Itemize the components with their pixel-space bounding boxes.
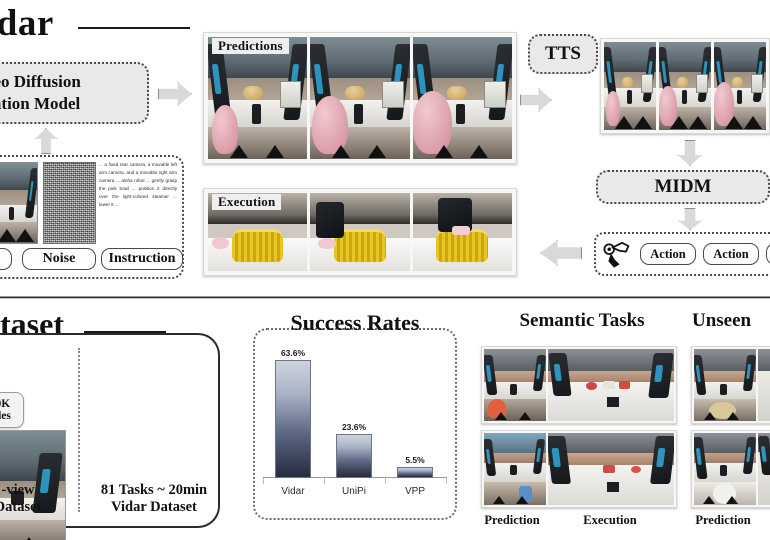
episodes-callout: 50K odes	[0, 392, 24, 428]
robot-arm-icon	[602, 238, 634, 270]
caption-line1: 81 Tasks ~ 20min	[80, 482, 228, 499]
instruction-text: ... a fixed rear camera, a movable left …	[99, 161, 177, 245]
unseen-prediction-caption: Prediction	[688, 513, 758, 527]
predictions-label: Predictions	[212, 38, 289, 54]
unseen-prediction-image	[694, 433, 756, 505]
chart-bar-unipi[interactable]	[336, 434, 372, 478]
noise-image	[43, 162, 96, 244]
chart-title: Success Rates	[253, 310, 457, 336]
semantic-prediction-image	[484, 433, 546, 505]
chart-tick	[324, 478, 325, 484]
arrow-predictions-to-tts	[520, 88, 552, 112]
episodes-callout-line2: odes	[0, 410, 11, 422]
unseen-title: Unseen	[692, 310, 751, 332]
unseen-prediction-image	[694, 349, 756, 421]
execution-frame	[310, 193, 409, 271]
arrow-midm-to-actions	[678, 208, 702, 230]
caption-line2: Dataset	[0, 499, 66, 516]
prediction-frame	[208, 37, 307, 159]
execution-frame	[413, 193, 512, 271]
chart-category-label-vidar: Vidar	[269, 486, 317, 497]
tts-label: TTS	[545, 43, 581, 65]
semantic-tasks-row-2	[481, 430, 677, 508]
semantic-execution-caption: Execution	[570, 513, 650, 527]
chart-category-label-unipi: UniPi	[330, 486, 378, 497]
arrow-frames-to-midm	[678, 140, 702, 166]
chart-plot-area: 63.6% 23.6% 5.5% Vidar UniPi VPP	[263, 340, 447, 500]
tts-box[interactable]: TTS	[528, 34, 598, 74]
action-button-2[interactable]: Action	[703, 243, 759, 265]
midm-box[interactable]: MIDM	[596, 170, 770, 204]
input-button-instruction[interactable]: Instruction	[101, 248, 183, 270]
caption-line2: Vidar Dataset	[80, 499, 228, 516]
tts-frame	[604, 42, 656, 130]
chart-value-label-unipi: 23.6%	[333, 422, 375, 432]
vidar-dataset-caption: 81 Tasks ~ 20min Vidar Dataset	[80, 482, 228, 515]
figure-canvas: idar deo Diffusion ndation Model ... a f…	[0, 0, 770, 540]
arrow-actions-to-execution	[540, 240, 582, 266]
semantic-execution-image	[548, 349, 674, 421]
input-button-noise[interactable]: Noise	[22, 248, 96, 270]
model-box-label-line2: ndation Model	[0, 94, 80, 114]
tts-frame	[659, 42, 711, 130]
semantic-tasks-title: Semantic Tasks	[482, 310, 682, 332]
chart-tick	[385, 478, 386, 484]
unseen-row-2	[691, 430, 770, 508]
arrow-model-to-predictions	[158, 82, 192, 106]
caption-line1: -view	[0, 482, 66, 499]
unseen-execution-image	[758, 349, 770, 421]
multi-view-dataset-caption: -view Dataset	[0, 482, 66, 515]
prediction-frame	[310, 37, 409, 159]
chart-category-label-vpp: VPP	[391, 486, 439, 497]
chart-bar-vidar[interactable]	[275, 360, 311, 478]
page-title-vidar: idar	[0, 2, 54, 45]
execution-label: Execution	[212, 194, 281, 210]
model-box-label-line1: deo Diffusion	[0, 72, 81, 92]
chart-value-label-vpp: 5.5%	[394, 455, 436, 465]
unseen-execution-image	[758, 433, 770, 505]
semantic-execution-image	[548, 433, 674, 505]
arrow-input-to-model	[35, 128, 57, 154]
tts-frames-panel	[600, 38, 770, 134]
chart-tick	[446, 478, 447, 484]
observation-image	[0, 162, 38, 244]
action-button-1[interactable]: Action	[640, 243, 696, 265]
chart-tick	[263, 478, 264, 484]
semantic-prediction-image	[484, 349, 546, 421]
midm-label: MIDM	[655, 176, 712, 198]
semantic-prediction-caption: Prediction	[477, 513, 547, 527]
title-rule-top	[78, 27, 190, 29]
semantic-tasks-row-1	[481, 346, 677, 424]
chart-bar-vpp[interactable]	[397, 467, 433, 478]
video-diffusion-foundation-model-box[interactable]: deo Diffusion ndation Model	[0, 62, 149, 124]
chart-value-label-vidar: 63.6%	[272, 348, 314, 358]
episodes-callout-line1: 50K	[0, 398, 10, 410]
prediction-frame	[413, 37, 512, 159]
tts-frame	[714, 42, 766, 130]
section-divider	[0, 296, 770, 299]
unseen-row-1	[691, 346, 770, 424]
